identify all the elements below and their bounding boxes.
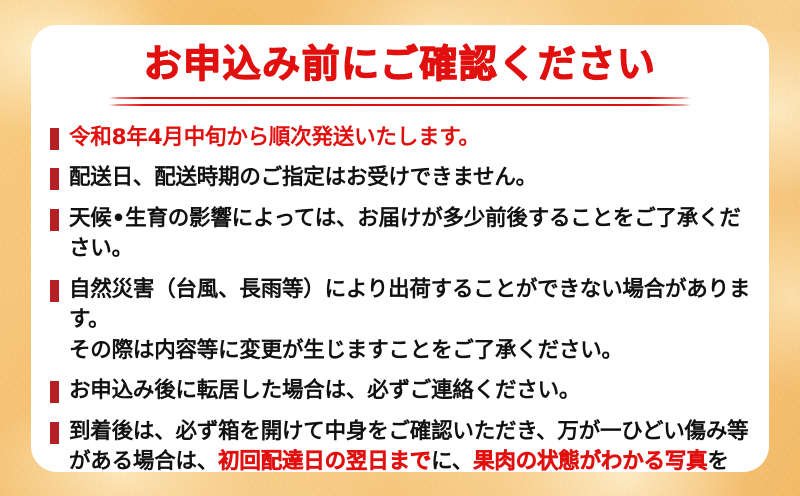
notice-item-line: がある場合は、初回配達日の翌日までに、果肉の状態がわかる写真を [69, 447, 751, 472]
notice-item-address-change: お申込み後に転居した場合は、必ずご連絡ください。 [42, 376, 751, 407]
bullet-square-icon [50, 128, 59, 150]
bullet-square-icon [50, 381, 59, 403]
notice-item-line: 令和8年4月中旬から順次発送いたします。 [69, 123, 751, 154]
notice-card: お申込み前にご確認ください 令和8年4月中旬から順次発送いたします。配送日、配送… [31, 25, 769, 472]
notice-item-line: 自然災害（台風、長雨等）により出荷することができない場合があります。 [69, 275, 751, 336]
notice-item-line: お申込み後に転居した場合は、必ずご連絡ください。 [69, 376, 751, 407]
notice-text: 到着後は、必ず箱を開けて中身をご確認いただき、万が一ひどい傷み等 [69, 419, 748, 444]
notice-text: 配送日、配送時期のご指定はお受けできません。 [69, 165, 537, 190]
notice-item-shipping-schedule: 令和8年4月中旬から順次発送いたします。 [42, 123, 751, 154]
notice-item-inspect-on-arrival: 到着後は、必ず箱を開けて中身をご確認いただき、万が一ひどい傷み等がある場合は、初… [42, 417, 751, 472]
notice-list: 令和8年4月中旬から順次発送いたします。配送日、配送時期のご指定はお受けできませ… [31, 123, 769, 472]
emphasis-red-text: 果肉の状態がわかる写真 [473, 449, 707, 472]
notice-item-no-date-designation: 配送日、配送時期のご指定はお受けできません。 [42, 163, 751, 194]
notice-text: 天候•生育の影響によっては、お届けが多少前後することをご了承ください。 [69, 206, 741, 262]
title-rule-lower [109, 104, 691, 106]
bullet-square-icon [50, 280, 59, 302]
bullet-square-icon [50, 209, 59, 231]
notice-text: に、 [431, 449, 473, 472]
emphasis-red-text: 令和8年4月中旬から順次発送いたします。 [69, 125, 480, 150]
notice-item-line: 天候•生育の影響によっては、お届けが多少前後することをご了承ください。 [69, 204, 751, 265]
notice-item-weather-growth-delay: 天候•生育の影響によっては、お届けが多少前後することをご了承ください。 [42, 204, 751, 265]
page-title: お申込み前にご確認ください [31, 43, 769, 87]
notice-text: お申込み後に転居した場合は、必ずご連絡ください。 [69, 378, 580, 403]
title-underline-rules [109, 97, 691, 106]
notice-item-line: その際は内容等に変更が生じますことをご了承ください。 [69, 336, 751, 367]
notice-text: その際は内容等に変更が生じますことをご了承ください。 [69, 338, 623, 363]
title-block: お申込み前にご確認ください [31, 25, 769, 106]
notice-item-line: 配送日、配送時期のご指定はお受けできません。 [69, 163, 751, 194]
notice-item-natural-disaster: 自然災害（台風、長雨等）により出荷することができない場合があります。その際は内容… [42, 275, 751, 367]
bullet-square-icon [50, 422, 59, 444]
notice-text: がある場合は、 [69, 449, 218, 472]
notice-text: を [707, 449, 728, 472]
emphasis-red-text: 初回配達日の翌日まで [218, 449, 431, 472]
notice-item-line: 到着後は、必ず箱を開けて中身をご確認いただき、万が一ひどい傷み等 [69, 417, 751, 448]
notice-text: 自然災害（台風、長雨等）により出荷することができない場合があります。 [69, 277, 750, 333]
bullet-square-icon [50, 168, 59, 190]
title-rule-upper [109, 97, 691, 99]
